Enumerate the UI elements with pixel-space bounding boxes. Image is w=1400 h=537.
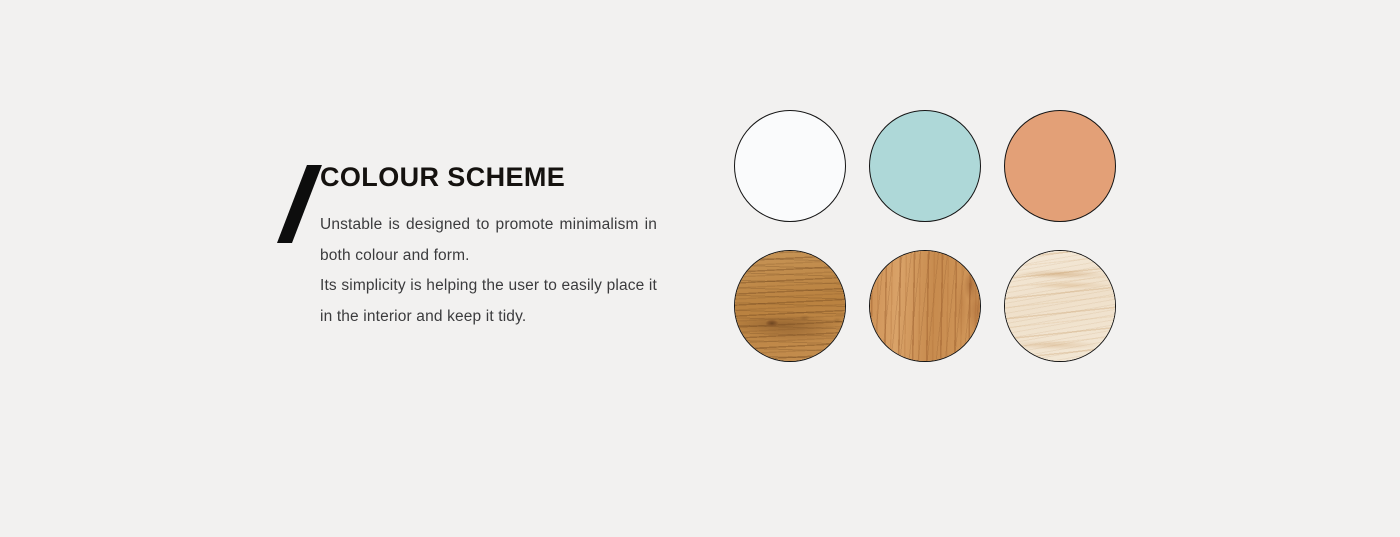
cherry-wood-texture [869, 250, 981, 362]
ash-wood-texture [1004, 250, 1116, 362]
page-title: COLOUR SCHEME [320, 164, 565, 191]
swatch-oak-wood[interactable] [734, 250, 846, 362]
description: Unstable is designed to promote minimali… [320, 210, 657, 332]
swatch-cherry-wood[interactable] [869, 250, 981, 362]
swatch-peach[interactable] [1004, 110, 1116, 222]
swatch-ash-wood[interactable] [1004, 250, 1116, 362]
slash-accent-bar [277, 165, 322, 243]
oak-wood-texture [734, 250, 846, 362]
colour-scheme-slide: COLOUR SCHEME Unstable is designed to pr… [0, 0, 1400, 537]
swatch-white[interactable] [734, 110, 846, 222]
slash-accent-icon [272, 165, 304, 243]
description-paragraph-1: Unstable is designed to promote minimali… [320, 210, 657, 271]
description-paragraph-2: Its simplicity is helping the user to ea… [320, 271, 657, 332]
swatch-grid [734, 110, 1119, 364]
swatch-mint[interactable] [869, 110, 981, 222]
